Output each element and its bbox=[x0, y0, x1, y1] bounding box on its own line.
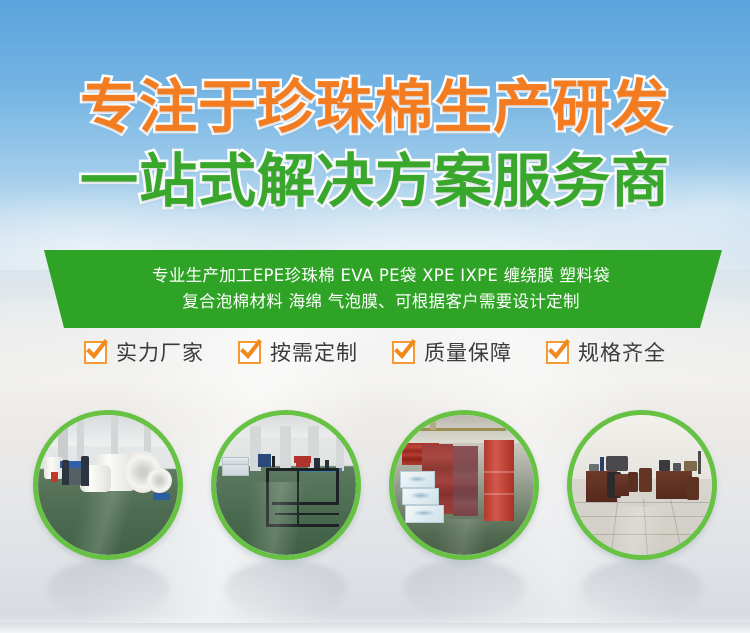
photo-circle-packaged-goods-stacks bbox=[389, 410, 539, 560]
feature-label: 实力厂家 bbox=[116, 337, 204, 367]
feature-item-strength: 实力厂家 bbox=[84, 337, 204, 367]
checkbox-checked-icon bbox=[546, 341, 569, 364]
photo-circle-office-workspace bbox=[567, 410, 717, 560]
product-band: 专业生产加工EPE珍珠棉 EVA PE袋 XPE IXPE 缠绕膜 塑料袋 复合… bbox=[36, 250, 726, 328]
headline-primary: 专注于珍珠棉生产研发 bbox=[0, 74, 750, 140]
product-band-line-2: 复合泡棉材料 海绵 气泡膜、可根据客户需要设计定制 bbox=[182, 290, 580, 314]
photo-circle-warehouse-storage-racks bbox=[211, 410, 361, 560]
feature-label: 质量保障 bbox=[424, 337, 512, 367]
photo-circle-foam-roll-production-line bbox=[33, 410, 183, 560]
photo-reflection bbox=[581, 560, 703, 618]
photo-reflection bbox=[225, 560, 347, 618]
feature-item-quality: 质量保障 bbox=[392, 337, 512, 367]
checkbox-checked-icon bbox=[392, 341, 415, 364]
feature-label: 规格齐全 bbox=[578, 337, 666, 367]
photo-reflection bbox=[403, 560, 525, 618]
checkbox-checked-icon bbox=[84, 341, 107, 364]
photo-wrap bbox=[33, 410, 183, 560]
feature-label: 按需定制 bbox=[270, 337, 358, 367]
photo-reflection bbox=[47, 560, 169, 618]
bottom-edge-strip bbox=[0, 623, 750, 633]
photo-wrap bbox=[567, 410, 717, 560]
photo-gallery bbox=[0, 410, 750, 560]
feature-list: 实力厂家 按需定制 质量保障 规格齐全 bbox=[0, 337, 750, 367]
photo-wrap bbox=[389, 410, 539, 560]
headline-secondary: 一站式解决方案服务商 bbox=[0, 148, 750, 214]
feature-item-custom: 按需定制 bbox=[238, 337, 358, 367]
photo-wrap bbox=[211, 410, 361, 560]
checkbox-checked-icon bbox=[238, 341, 261, 364]
feature-item-specs: 规格齐全 bbox=[546, 337, 666, 367]
promotional-banner: 专注于珍珠棉生产研发 一站式解决方案服务商 专业生产加工EPE珍珠棉 EVA P… bbox=[0, 0, 750, 633]
headline-group: 专注于珍珠棉生产研发 一站式解决方案服务商 bbox=[0, 74, 750, 214]
product-band-line-1: 专业生产加工EPE珍珠棉 EVA PE袋 XPE IXPE 缠绕膜 塑料袋 bbox=[152, 264, 610, 288]
